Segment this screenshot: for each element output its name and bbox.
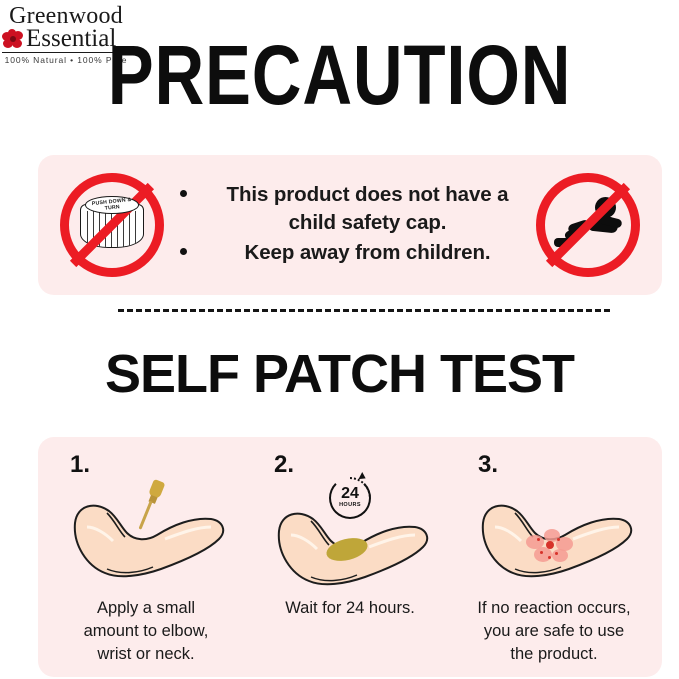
patch-step-2: 2. 24 HOURS Wait for 24 hours. xyxy=(248,443,452,677)
list-item: Keep away from children. xyxy=(180,239,530,267)
step-number: 1. xyxy=(70,451,90,479)
red-flower-icon xyxy=(2,29,24,49)
elbow-with-rash-icon xyxy=(464,477,644,589)
list-item: This product does not have a child safet… xyxy=(180,181,530,237)
elbow-with-dropper-icon xyxy=(56,477,236,589)
precaution-bullet-2: Keep away from children. xyxy=(205,239,530,267)
step-number: 3. xyxy=(478,451,498,479)
no-child-safety-cap-icon: PUSH DOWN & TURN xyxy=(60,173,164,277)
step-caption: If no reaction occurs, you are safe to u… xyxy=(465,597,642,666)
bullet-dot-icon xyxy=(180,190,187,197)
step-number: 2. xyxy=(274,451,294,479)
section-divider xyxy=(118,309,610,312)
precaution-heading: PRECAUTION xyxy=(61,33,618,117)
self-patch-test-heading: SELF PATCH TEST xyxy=(0,346,679,402)
self-patch-test-panel: 1. Apply a small amount to elbow, wrist … xyxy=(38,437,662,677)
patch-step-1: 1. Apply a small amount to elbow, wrist … xyxy=(44,443,248,677)
skin-reaction-mark xyxy=(524,529,580,569)
step-caption: Wait for 24 hours. xyxy=(273,597,427,620)
patch-step-3: 3. xyxy=(452,443,656,677)
no-children-icon xyxy=(536,173,640,277)
step-caption: Apply a small amount to elbow, wrist or … xyxy=(72,597,221,666)
elbow-with-24-hours-icon: 24 HOURS xyxy=(260,477,440,589)
precaution-bullet-list: This product does not have a child safet… xyxy=(164,181,536,269)
bullet-dot-icon xyxy=(180,248,187,255)
precaution-bullet-1: This product does not have a child safet… xyxy=(205,181,530,237)
precaution-panel: PUSH DOWN & TURN This product does not h… xyxy=(38,155,662,295)
